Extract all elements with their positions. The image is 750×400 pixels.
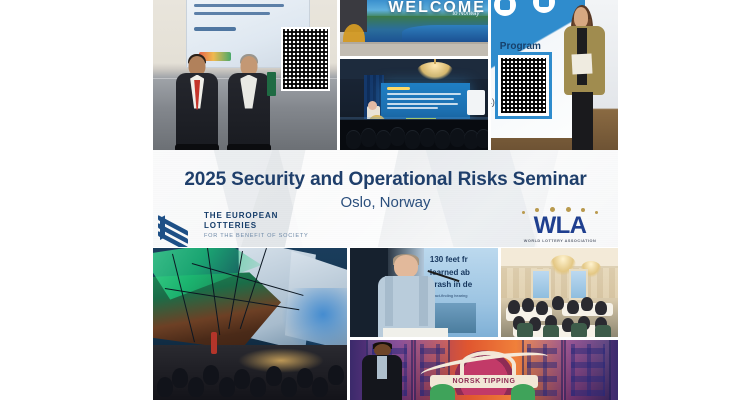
folder-prop [267,72,276,96]
ship-venue-dinner-photo [153,248,347,400]
window [531,269,550,300]
window [569,269,588,300]
welcome-display: WELCOME to Norway [364,0,488,44]
program-slide-label: Program [500,41,541,52]
el-logo-line1: THE EUROPEAN [204,211,308,221]
chevron-mark-icon [158,211,198,243]
shrub-icon [430,384,454,400]
stage-slide-qr-icon [281,27,329,91]
gala-dinner-photo [501,248,618,337]
audience [340,119,488,150]
wla-wordmark: WLA [512,213,608,239]
welcome-screen-subtext: to Norway [452,11,479,17]
title-band: 2025 Security and Operational Risks Semi… [153,150,618,247]
norsk-tipping-sign-label: NORSK TIPPING [452,378,515,385]
slide-badge-icon [492,0,518,18]
world-lottery-association-logo: WLA WORLD LOTTERY ASSOCIATION [512,205,608,247]
heat-lamp-icon [211,332,217,354]
banner-canvas: WELCOME to Norway [0,0,750,400]
program-qr-code-icon [498,55,550,116]
shrub-icon [511,384,535,400]
stage-award-photo [153,0,337,150]
person-figure [361,342,404,400]
conference-hall-photo [340,59,488,150]
podium-speaker-photo: 130 feet fr learned ab crash in de A fac… [350,248,498,337]
page-title: 2025 Security and Operational Risks Semi… [153,169,618,191]
person-figure [377,255,436,337]
slide-line-3: crash in de [430,280,472,289]
el-logo-line2: LOTTERIES [204,221,308,231]
the-european-lotteries-logo: THE EUROPEAN LOTTERIES FOR THE BENEFIT O… [158,209,326,245]
welcome-screen-photo: WELCOME to Norway [340,0,488,56]
chandelier-icon [417,62,453,80]
person-figure [555,6,613,150]
program-slide-marker: 4) [491,97,495,107]
photo-collage: WELCOME to Norway [153,0,618,400]
norsk-tipping-stage-photo: NORSK TIPPING [350,340,618,400]
el-logo-tagline: FOR THE BENEFIT OF SOCIETY [204,231,308,241]
wla-tagline: WORLD LOTTERY ASSOCIATION [512,239,608,243]
qr-program-photo: Program 4) [491,0,618,150]
